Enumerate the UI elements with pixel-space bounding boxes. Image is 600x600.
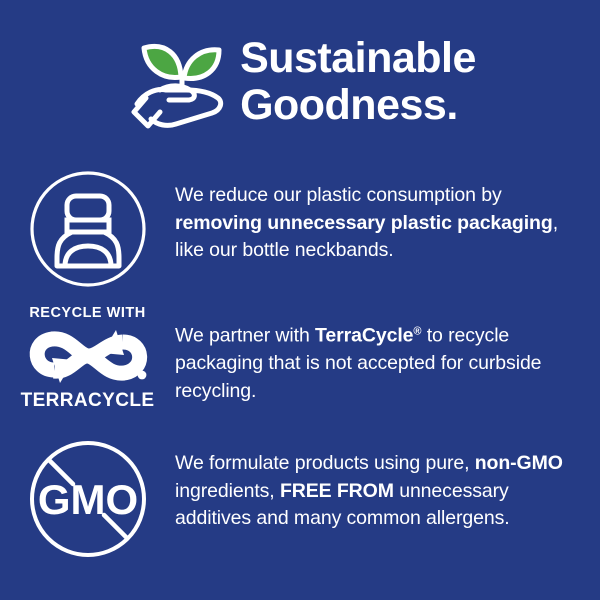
plastic-bottle-icon (29, 170, 147, 288)
benefit-text-terracycle: We partner with TerraCycle® to recycle p… (175, 305, 600, 405)
benefit-text-gmo: We formulate products using pure, non-GM… (175, 440, 600, 533)
terracycle-bottom-label: TERRACYCLE (21, 390, 155, 411)
no-gmo-icon: GMO (29, 440, 147, 558)
infinity-recycle-arrows-icon (24, 325, 152, 387)
benefit-row-plastic: We reduce our plastic consumption by rem… (0, 170, 600, 288)
terracycle-logo: RECYCLE WITH TERRACYCLE (22, 305, 154, 411)
benefit-row-gmo: GMO We formulate products using pure, no… (0, 440, 600, 558)
page-header: Sustainable Goodness. (0, 22, 600, 142)
benefit-text-plastic: We reduce our plastic consumption by rem… (175, 170, 600, 265)
gmo-label: GMO (37, 476, 137, 523)
benefit-icon-slot: RECYCLE WITH TERRACYCLE (0, 305, 175, 411)
benefit-row-terracycle: RECYCLE WITH TERRACYCLE We partner with … (0, 305, 600, 411)
benefit-icon-slot (0, 170, 175, 288)
benefit-icon-slot: GMO (0, 440, 175, 558)
hand-holding-sprout-icon (124, 28, 232, 136)
page-title: Sustainable Goodness. (240, 35, 476, 129)
terracycle-top-label: RECYCLE WITH (29, 305, 145, 321)
